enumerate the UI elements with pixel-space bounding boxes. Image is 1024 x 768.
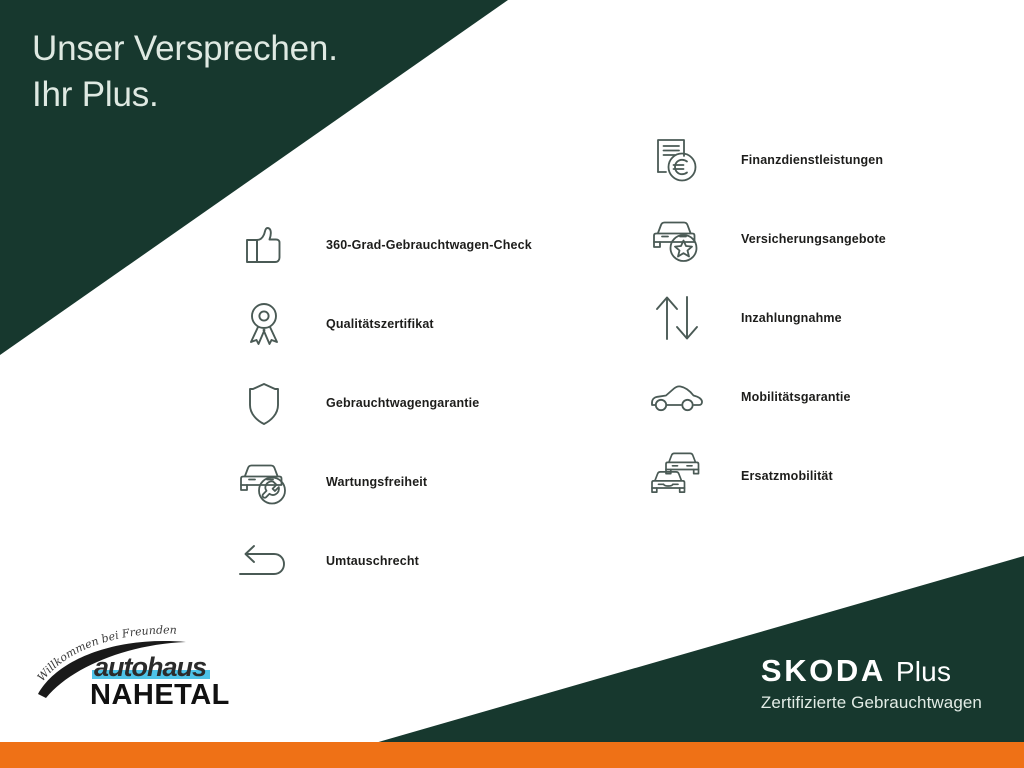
car-side-icon: [645, 365, 709, 429]
dealer-name-top: autohaus: [94, 652, 207, 682]
u-turn-arrow-icon: [232, 529, 296, 593]
feature-item: Wartungsfreiheit: [232, 442, 592, 521]
award-rosette-icon: [232, 292, 296, 356]
feature-label: Mobilitätsgarantie: [741, 390, 851, 404]
skoda-subtitle: Zertifizierte Gebrauchtwagen: [761, 693, 982, 713]
feature-label: Inzahlungnahme: [741, 311, 842, 325]
feature-label: 360-Grad-Gebrauchtwagen-Check: [326, 238, 532, 252]
feature-label: Versicherungsangebote: [741, 232, 886, 246]
document-euro-icon: [645, 128, 709, 192]
thumbs-up-icon: [232, 213, 296, 277]
dealer-name-bottom: NAHETAL: [90, 679, 230, 710]
feature-item: Inzahlungnahme: [645, 278, 1005, 357]
feature-label: Qualitätszertifikat: [326, 317, 434, 331]
two-cars-icon: [645, 444, 709, 508]
feature-label: Gebrauchtwagengarantie: [326, 396, 479, 410]
headline-line-1: Unser Versprechen.: [32, 29, 338, 68]
car-wrench-icon: [232, 450, 296, 514]
feature-list-right: Finanzdienstleistungen Versicherungsange…: [645, 120, 1005, 515]
feature-item: Ersatzmobilität: [645, 436, 1005, 515]
feature-item: Versicherungsangebote: [645, 199, 1005, 278]
feature-label: Wartungsfreiheit: [326, 475, 427, 489]
shield-icon: [232, 371, 296, 435]
skoda-wordmark: SKODA: [761, 655, 886, 686]
feature-item: Finanzdienstleistungen: [645, 120, 1005, 199]
feature-item: 360-Grad-Gebrauchtwagen-Check: [232, 205, 592, 284]
dealer-logo: Willkommen bei Freunden autohaus NAHETAL: [34, 624, 244, 710]
feature-item: Umtauschrecht: [232, 521, 592, 600]
feature-label: Ersatzmobilität: [741, 469, 833, 483]
feature-item: Mobilitätsgarantie: [645, 357, 1005, 436]
feature-item: Qualitätszertifikat: [232, 284, 592, 363]
skoda-wordmark-row: SKODA Plus: [761, 655, 982, 686]
feature-label: Finanzdienstleistungen: [741, 153, 883, 167]
slide-canvas: Unser Versprechen. Ihr Plus. 360-Grad-Ge…: [0, 0, 1024, 768]
feature-item: Gebrauchtwagengarantie: [232, 363, 592, 442]
headline-line-2: Ihr Plus.: [32, 72, 492, 118]
skoda-plus-branding: SKODA Plus Zertifizierte Gebrauchtwagen: [761, 655, 982, 713]
car-star-icon: [645, 207, 709, 271]
orange-accent-bar: [0, 742, 1024, 768]
feature-list-left: 360-Grad-Gebrauchtwagen-Check Qualitätsz…: [232, 205, 592, 600]
skoda-plus-label: Plus: [896, 658, 951, 686]
headline: Unser Versprechen. Ihr Plus.: [32, 26, 492, 118]
feature-label: Umtauschrecht: [326, 554, 419, 568]
up-down-arrows-icon: [645, 286, 709, 350]
